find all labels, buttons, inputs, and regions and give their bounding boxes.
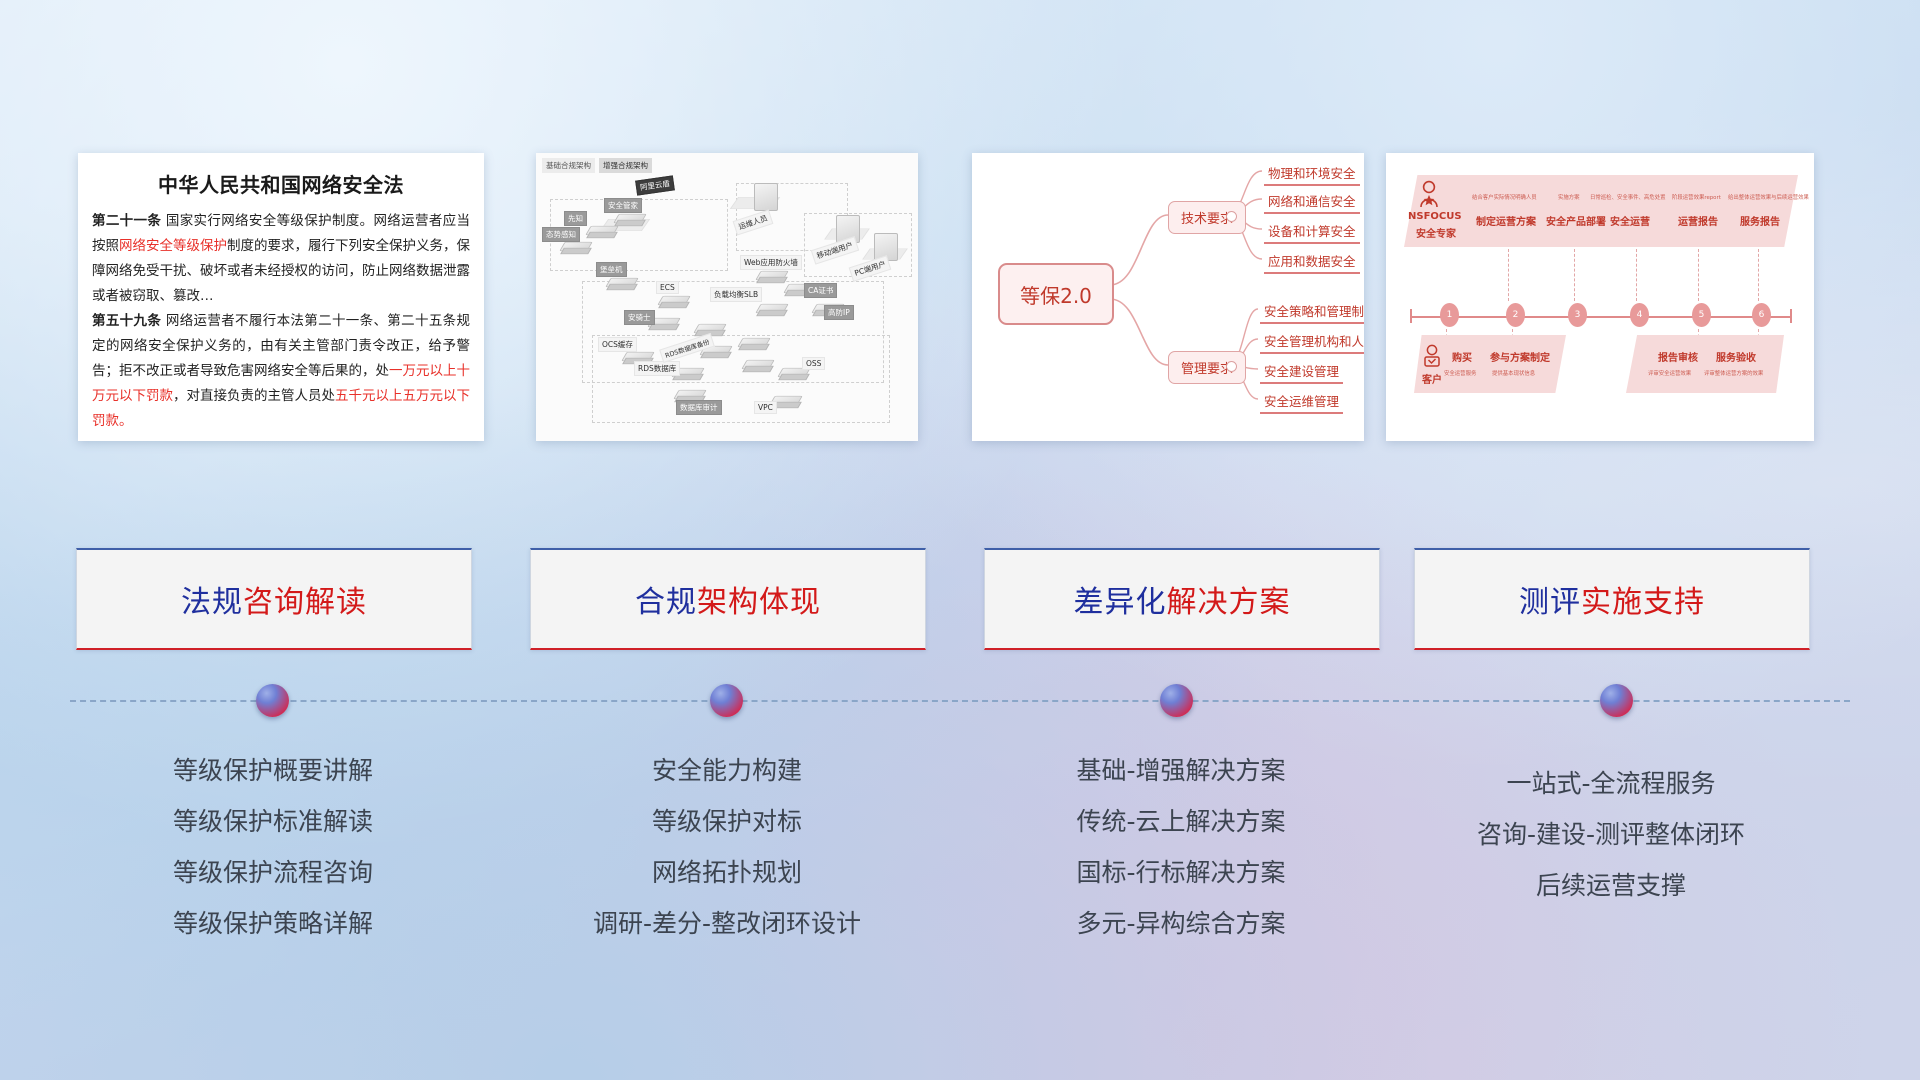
section-heading-2-red: 架构体现 [697,577,821,621]
list-item: 传统-云上解决方案 [966,796,1396,847]
law-article-59-part2: ，对直接负责的主管人员处 [173,388,335,404]
expert-step-1-title: 制定运营方案 [1476,213,1536,228]
timeline-marker-4 [1600,684,1633,717]
tab-enhanced-compliance[interactable]: 增强合规架构 [599,158,652,173]
architecture-tabs: 基础合规架构 增强合规架构 [542,158,652,173]
section-heading-4-red: 实施支持 [1581,577,1705,621]
timeline-dash-5 [1698,249,1700,301]
section-heading-1-red: 咨询解读 [243,577,367,621]
list-item: 网络拓扑规划 [512,847,942,898]
list-item: 国标-行标解决方案 [966,847,1396,898]
mindmap-leaf-mgmt-2: 安全管理机构和人员 [1260,331,1364,354]
section-heading-3-blue: 差异化 [1074,577,1167,621]
label-ocs-cache: OCS缓存 [598,337,637,352]
law-title: 中华人民共和国网络安全法 [78,169,484,198]
label-slb: 负载均衡SLB [710,287,762,302]
timeline-node-6[interactable]: 6 [1752,303,1771,327]
timeline-node-3[interactable]: 3 [1568,303,1587,327]
customer-step-1-sub: 安全运营服务 [1444,369,1476,377]
expert-banner [1404,175,1798,247]
expert-step-5-sub: 给出整体运营效果与后续运营效果 [1728,193,1809,201]
timeline-node-4[interactable]: 4 [1630,303,1649,327]
mindmap-leaf-tech-2: 网络和通信安全 [1264,191,1360,214]
expert-step-2-title: 安全产品部署 [1546,213,1606,228]
section-heading-1-blue: 法规 [181,577,243,621]
card-service-timeline: NSFOCUS 安全专家 结合客户实际情况明确人员 制定运营方案 实施方案 安全… [1386,153,1814,441]
section-heading-3-red: 解决方案 [1167,577,1291,621]
expert-step-5-title: 服务报告 [1740,213,1780,228]
timeline-dash-2 [1508,249,1510,301]
label-xianzhi: 先知 [564,211,587,226]
section-heading-1[interactable]: 法规咨询解读 [76,548,472,650]
section-items-2: 安全能力构建 等级保护对标 网络拓扑规划 调研-差分-整改闭环设计 [512,745,942,949]
expert-step-2-sub: 实施方案 [1558,193,1580,201]
mindmap-leaf-mgmt-1: 安全策略和管理制度 [1260,301,1364,324]
list-item: 等级保护流程咨询 [58,847,488,898]
customer-step-2-title: 参与方案制定 [1490,349,1550,364]
section-heading-2[interactable]: 合规架构体现 [530,548,926,650]
timeline-node-1[interactable]: 1 [1440,303,1459,327]
list-item: 后续运营支撑 [1396,860,1826,911]
customer-step-4-title: 服务验收 [1716,349,1756,364]
expert-step-4-sub: 阶段运营效果report [1672,193,1721,201]
service-timeline-canvas: NSFOCUS 安全专家 结合客户实际情况明确人员 制定运营方案 实施方案 安全… [1386,153,1814,441]
section-heading-4[interactable]: 测评实施支持 [1414,548,1810,650]
section-items-3: 基础-增强解决方案 传统-云上解决方案 国标-行标解决方案 多元-异构综合方案 [966,745,1396,949]
label-anqishi: 安骑士 [624,310,655,325]
customer-step-2-sub: 提供基本现状信息 [1492,369,1535,377]
customer-step-4-sub: 评审整体运营方案的效果 [1704,369,1763,377]
law-body: 第二十一条 国家实行网络安全等级保护制度。网络运营者应当按照网络安全等级保护制度… [78,209,484,434]
expert-step-3-sub: 日常巡检、安全事件、高危处置 [1590,193,1665,201]
expert-step-1-sub: 结合客户实际情况明确人员 [1472,193,1537,201]
mindmap-leaf-mgmt-4: 安全运维管理 [1260,391,1343,414]
customer-step-1-title: 购买 [1452,349,1472,364]
label-ecs: ECS [656,281,679,294]
label-vpc: VPC [754,401,777,414]
list-item: 等级保护对标 [512,796,942,847]
mindmap-collapse-icon-technical[interactable] [1226,211,1237,222]
list-item: 等级保护概要讲解 [58,745,488,796]
list-item: 咨询-建设-测评整体闭环 [1396,809,1826,860]
node-ecs-5 [744,357,770,375]
list-item: 等级保护标准解读 [58,796,488,847]
label-bastion-host: 堡垒机 [596,262,627,277]
node-security-butler [616,211,642,229]
mindmap-leaf-mgmt-3: 安全建设管理 [1260,361,1343,384]
mindmap-leaf-tech-3: 设备和计算安全 [1264,221,1360,244]
timeline-marker-2 [710,684,743,717]
label-rds: RDS数据库 [634,361,680,376]
label-anti-ddos: 高防IP [824,305,854,320]
section-heading-3[interactable]: 差异化解决方案 [984,548,1380,650]
timeline-dash-6 [1758,249,1760,301]
section-heading-2-blue: 合规 [635,577,697,621]
list-item: 等级保护策略详解 [58,898,488,949]
customer-banner-right [1626,335,1784,393]
timeline-marker-1 [256,684,289,717]
customer-person-icon [1422,343,1442,369]
list-item: 调研-差分-整改闭环设计 [512,898,942,949]
label-db-audit: 数据库审计 [676,400,722,415]
node-slb [758,301,784,319]
section-heading-4-blue: 测评 [1519,577,1581,621]
node-ops-staff [754,183,778,211]
card-architecture-diagram: 基础合规架构 增强合规架构 阿里云盾 安全管家 先知 态势感知 运维人员 移动端… [536,153,918,441]
list-item: 一站式-全流程服务 [1396,758,1826,809]
brand-name: NSFOCUS [1408,211,1462,222]
section-items-1: 等级保护概要讲解 等级保护标准解读 等级保护流程咨询 等级保护策略详解 [58,745,488,949]
law-article-59-label: 第五十九条 [92,313,161,329]
mindmap-canvas: 等保2.0 技术要求 物理和环境安全 网络和通信安全 设备和计算安全 应用和数据… [972,153,1364,441]
expert-step-3-title: 安全运营 [1610,213,1650,228]
label-ca-cert: CA证书 [804,283,837,298]
section-items-4: 一站式-全流程服务 咨询-建设-测评整体闭环 后续运营支撑 [1396,758,1826,911]
timeline-dash-3 [1574,249,1576,301]
mindmap-collapse-icon-management[interactable] [1226,361,1237,372]
timeline-cap-left [1410,309,1412,323]
list-item: 安全能力构建 [512,745,942,796]
list-item: 多元-异构综合方案 [966,898,1396,949]
brand-subtitle: 安全专家 [1416,225,1456,240]
law-article-21-highlight: 网络安全等级保护 [119,238,227,254]
timeline-dash-4 [1636,249,1638,301]
node-ecs [660,293,686,311]
timeline-node-2[interactable]: 2 [1506,303,1525,327]
timeline-rail [1410,316,1792,318]
timeline-cap-right [1790,309,1792,323]
expert-person-icon [1416,179,1442,209]
card-mindmap: 等保2.0 技术要求 物理和环境安全 网络和通信安全 设备和计算安全 应用和数据… [972,153,1364,441]
node-ecs-4 [740,335,766,353]
mindmap-leaf-tech-4: 应用和数据安全 [1264,251,1360,274]
card-law-text: 中华人民共和国网络安全法 第二十一条 国家实行网络安全等级保护制度。网络运营者应… [78,153,484,441]
timeline-node-5[interactable]: 5 [1692,303,1711,327]
expert-step-4-title: 运营报告 [1678,213,1718,228]
timeline-divider [70,700,1850,702]
list-item: 基础-增强解决方案 [966,745,1396,796]
mindmap-core: 等保2.0 [998,263,1114,325]
architecture-canvas: 基础合规架构 增强合规架构 阿里云盾 安全管家 先知 态势感知 运维人员 移动端… [536,153,918,441]
mindmap-leaf-tech-1: 物理和环境安全 [1264,163,1360,186]
node-xianzhi [588,223,614,241]
node-waf [758,268,784,286]
customer-step-3-sub: 评审安全运营效果 [1648,369,1691,377]
law-article-21-label: 第二十一条 [92,213,161,229]
label-situation-awareness: 态势感知 [542,227,580,242]
label-waf: Web应用防火墙 [740,255,802,270]
label-security-butler: 安全管家 [604,198,642,213]
label-oss: OSS [802,357,825,370]
label-cloud-shield: 阿里云盾 [635,175,675,195]
customer-label: 客户 [1422,371,1442,386]
tab-basic-compliance[interactable]: 基础合规架构 [542,158,595,173]
customer-step-3-title: 报告审核 [1658,349,1698,364]
timeline-marker-3 [1160,684,1193,717]
node-bastion-host [608,275,634,293]
